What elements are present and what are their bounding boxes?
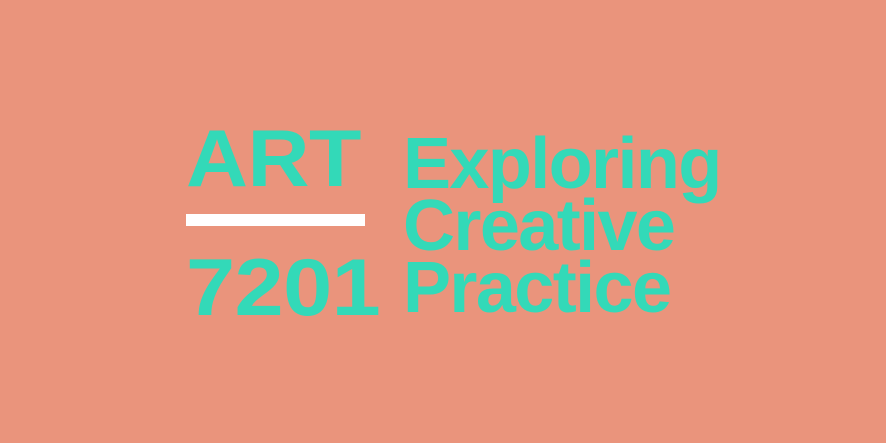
title-lockup: ART 7201 Exploring Creative Practice bbox=[186, 128, 721, 319]
course-title-card: ART 7201 Exploring Creative Practice bbox=[0, 0, 886, 443]
divider-rule bbox=[186, 214, 365, 226]
course-code-prefix: ART bbox=[186, 128, 383, 200]
course-title-block: Exploring Creative Practice bbox=[403, 128, 721, 319]
course-code-number: 7201 bbox=[186, 248, 389, 306]
course-code-block: ART 7201 bbox=[186, 128, 372, 306]
course-title-line-3: Practice bbox=[403, 257, 721, 319]
